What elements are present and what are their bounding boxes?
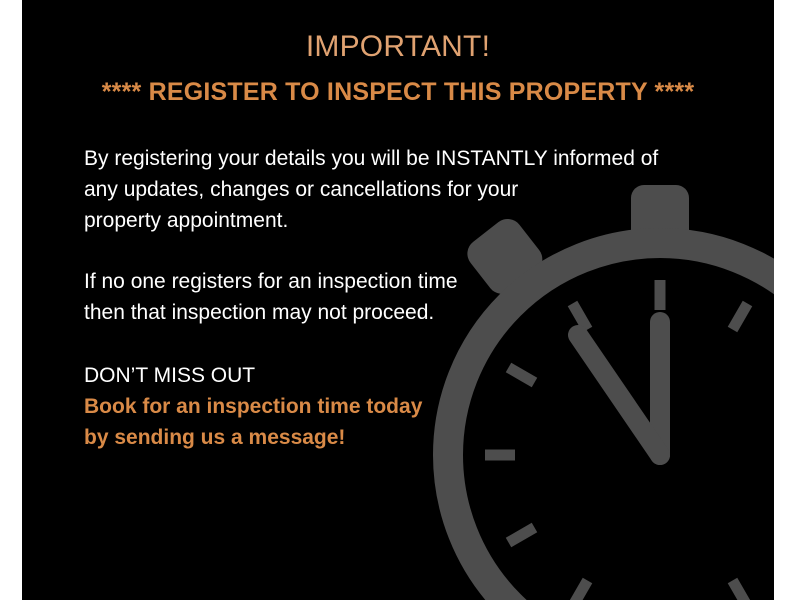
cta-send-message: by sending us a message! xyxy=(84,422,734,453)
headline-important: IMPORTANT! xyxy=(22,28,774,66)
poster-canvas: IMPORTANT! **** REGISTER TO INSPECT THIS… xyxy=(0,0,800,600)
paragraph2-line2: then that inspection may not proceed. xyxy=(84,297,734,328)
cta-dont-miss-out: DON’T MISS OUT xyxy=(84,360,734,391)
paragraph-registering-benefit: By registering your details you will be … xyxy=(84,143,734,236)
paragraph-no-registration-warning: If no one registers for an inspection ti… xyxy=(84,266,734,328)
poster-black-panel: IMPORTANT! **** REGISTER TO INSPECT THIS… xyxy=(22,0,774,600)
paragraph1-line3: property appointment. xyxy=(84,205,734,236)
paragraph2-line1: If no one registers for an inspection ti… xyxy=(84,266,734,297)
poster-content: IMPORTANT! **** REGISTER TO INSPECT THIS… xyxy=(22,0,774,600)
headline-register: **** REGISTER TO INSPECT THIS PROPERTY *… xyxy=(22,74,774,110)
paragraph1-line1: By registering your details you will be … xyxy=(84,143,734,174)
paragraph1-line2: any updates, changes or cancellations fo… xyxy=(84,174,734,205)
headline-block: IMPORTANT! **** REGISTER TO INSPECT THIS… xyxy=(22,28,774,110)
body-block: By registering your details you will be … xyxy=(84,143,734,453)
cta-book-inspection: Book for an inspection time today xyxy=(84,391,734,422)
